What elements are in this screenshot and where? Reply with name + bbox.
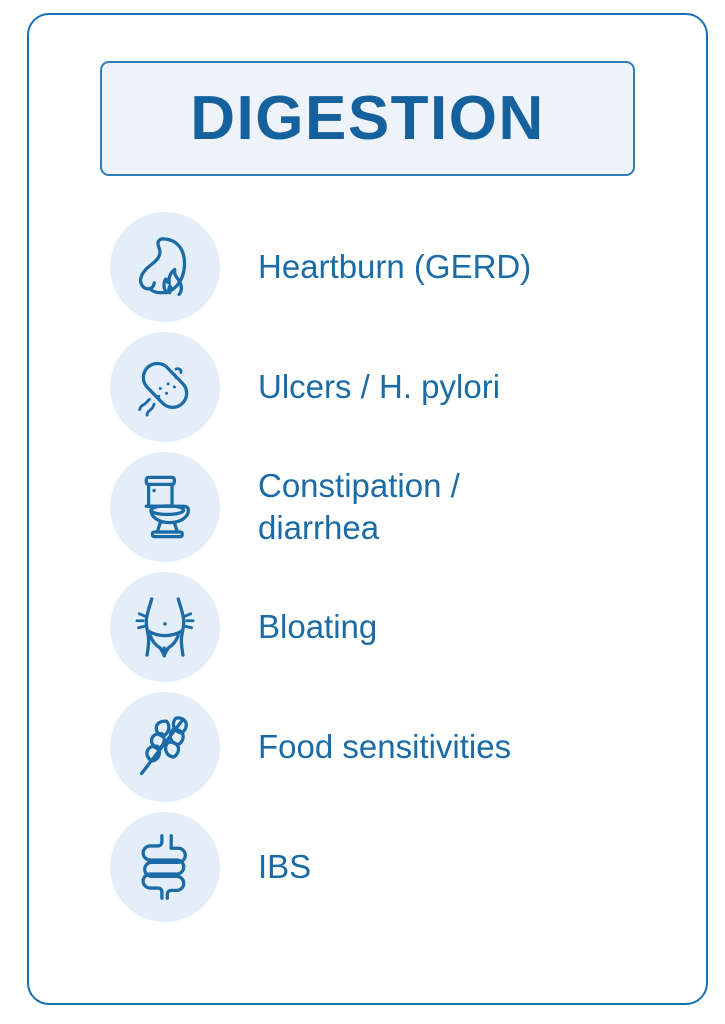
list-item-label: Bloating bbox=[258, 606, 377, 648]
icon-badge bbox=[110, 452, 220, 562]
list-item-label: IBS bbox=[258, 846, 311, 888]
intestines-icon bbox=[126, 828, 204, 906]
list-item-label: Heartburn (GERD) bbox=[258, 246, 531, 288]
icon-badge bbox=[110, 332, 220, 442]
stomach-flame-icon bbox=[126, 228, 204, 306]
list-item-label: Ulcers / H. pylori bbox=[258, 366, 500, 408]
bacteria-icon bbox=[126, 348, 204, 426]
digestion-infographic: DIGESTION Heartburn (GERD) bbox=[0, 0, 725, 1024]
bloated-abdomen-icon bbox=[126, 588, 204, 666]
icon-badge bbox=[110, 812, 220, 922]
list-item: IBS bbox=[110, 812, 670, 922]
page-title: DIGESTION bbox=[190, 88, 545, 150]
wheat-icon bbox=[126, 708, 204, 786]
icon-badge bbox=[110, 692, 220, 802]
list-item-label: Food sensitivities bbox=[258, 726, 511, 768]
poster-card: DIGESTION Heartburn (GERD) bbox=[27, 13, 708, 1005]
icon-badge bbox=[110, 572, 220, 682]
header-box: DIGESTION bbox=[100, 61, 635, 176]
symptom-list: Heartburn (GERD) bbox=[110, 212, 670, 922]
list-item: Constipation / diarrhea bbox=[110, 452, 670, 562]
list-item: Ulcers / H. pylori bbox=[110, 332, 670, 442]
list-item: Bloating bbox=[110, 572, 670, 682]
icon-badge bbox=[110, 212, 220, 322]
list-item-label: Constipation / diarrhea bbox=[258, 465, 460, 549]
list-item: Food sensitivities bbox=[110, 692, 670, 802]
toilet-icon bbox=[126, 468, 204, 546]
list-item: Heartburn (GERD) bbox=[110, 212, 670, 322]
